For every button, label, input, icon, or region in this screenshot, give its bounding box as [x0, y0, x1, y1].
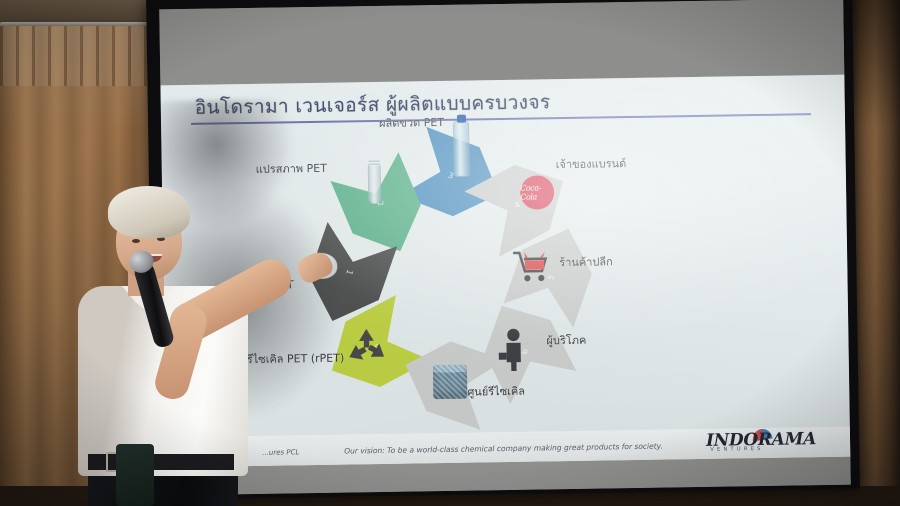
cycle-label-4: เจ้าของแบรนด์ [556, 154, 627, 173]
preform-icon [368, 162, 382, 204]
cycle-arrow-1-number: 1 [344, 268, 354, 276]
projector-letterbox-top [159, 0, 844, 87]
cycle-arrow-2: 2 [330, 152, 434, 266]
coca-cola-wordmark: Coca-Cola [520, 183, 554, 202]
photo-scene: อินโดรามา เวนเจอร์ส ผู้ผลิตแบบครบวงจร 3 … [0, 0, 900, 506]
presenter [60, 186, 290, 506]
logo-subtext: VENTURES [710, 446, 764, 453]
belt-pouch [116, 444, 154, 506]
recycle-symbol-icon [344, 326, 389, 367]
recycling-bale-icon [433, 365, 468, 400]
cycle-label-6: ผู้บริโภค [546, 331, 586, 350]
consumer-person-icon [498, 328, 529, 372]
eye-left [132, 239, 140, 243]
cycle-label-2: แปรสภาพ PET [256, 159, 327, 178]
pet-bottle-icon [453, 121, 470, 177]
preform-neck-icon [369, 159, 380, 166]
indorama-logo: INDORAMA VENTURES [706, 429, 828, 455]
shopping-cart-icon [511, 249, 550, 284]
cycle-label-5: ร้านค้าปลีก [559, 252, 613, 271]
presenter-hair [108, 186, 190, 238]
bottle-cap-icon [457, 115, 466, 123]
cycle-label-7: ศูนย์รีไซเคิล [467, 382, 525, 401]
cycle-label-3: ผลิตขวด PET [379, 113, 444, 132]
footer-vision: Our vision: To be a world-class chemical… [344, 442, 663, 456]
